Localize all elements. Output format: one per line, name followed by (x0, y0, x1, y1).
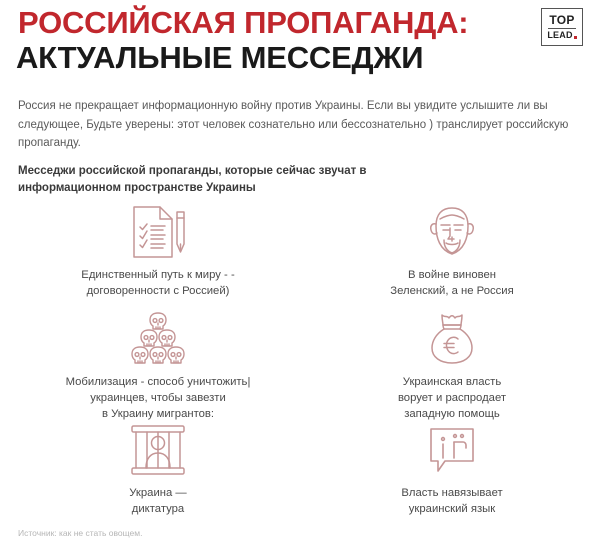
message-caption: Единственный путь к миру - - договоренно… (18, 267, 298, 299)
message-card: Власть навязывает украинский язык (312, 421, 592, 517)
message-caption: Украинская власть ворует и распродает за… (312, 374, 592, 422)
skull-pyramid-icon (18, 310, 298, 368)
message-caption: Украина — диктатура (18, 485, 298, 517)
logo-accent-mark (574, 36, 577, 39)
logo-top-text: TOP (549, 14, 574, 27)
message-card: В войне виновен Зеленский, а не Россия (312, 203, 592, 299)
intro-paragraph: Россия не прекращает информационную войн… (18, 97, 578, 153)
section-subtitle: Месседжи российской пропаганды, которые … (18, 163, 438, 197)
message-card: Мобилизация - способ уничтожить| украинц… (18, 310, 298, 422)
bearded-face-icon (312, 203, 592, 261)
header: РОССИЙСКАЯ ПРОПАГАНДА: АКТУАЛЬНЫЕ МЕССЕД… (0, 0, 604, 90)
infographic-page: РОССИЙСКАЯ ПРОПАГАНДА: АКТУАЛЬНЫЕ МЕССЕД… (0, 0, 604, 550)
prison-bars-person-icon (18, 421, 298, 479)
message-card: Украинская власть ворует и распродает за… (312, 310, 592, 422)
logo-divider (548, 28, 576, 30)
message-caption: В войне виновен Зеленский, а не Россия (312, 267, 592, 299)
document-checklist-pen-icon (18, 203, 298, 261)
logo-bottom-wrap: LEAD (547, 30, 576, 40)
source-note: Источник: как не стать овощем. (18, 528, 142, 539)
message-card: Единственный путь к миру - - договоренно… (18, 203, 298, 299)
message-caption: Мобилизация - способ уничтожить| украинц… (18, 374, 298, 422)
message-caption: Власть навязывает украинский язык (312, 485, 592, 517)
page-title-line-1: РОССИЙСКАЯ ПРОПАГАНДА: (18, 6, 468, 40)
toplead-logo: TOP LEAD (541, 8, 583, 46)
logo-bottom-text: LEAD (547, 30, 572, 40)
message-card: Украина — диктатура (18, 421, 298, 517)
page-title-line-2: АКТУАЛЬНЫЕ МЕССЕДЖИ (16, 41, 423, 75)
money-bag-euro-icon (312, 310, 592, 368)
speech-bubble-yi-icon (312, 421, 592, 479)
